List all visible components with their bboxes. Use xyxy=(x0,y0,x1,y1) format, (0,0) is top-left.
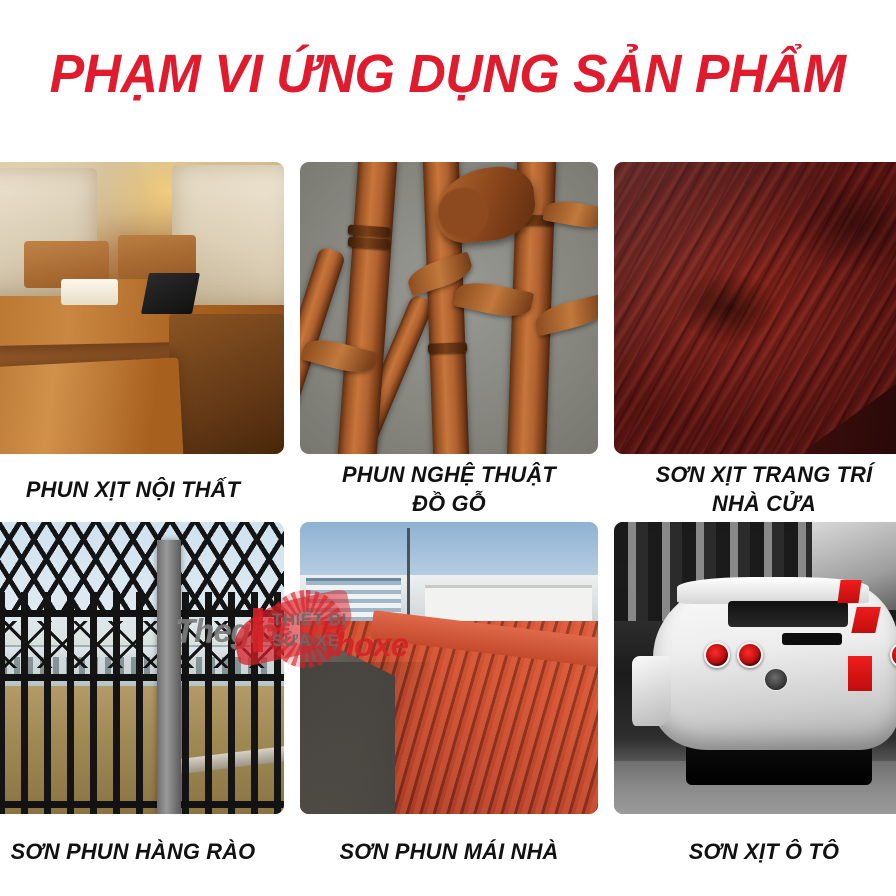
utility-pole-shape xyxy=(407,528,410,621)
gallery-caption-fence-spray: SƠN PHUN HÀNG RÀO xyxy=(0,838,279,867)
fence-rail-shape xyxy=(0,801,284,808)
laptop-shape xyxy=(141,273,200,314)
gallery-item-car-spray[interactable]: SƠN XỊT Ô TÔ xyxy=(614,522,896,882)
red-stripe-shape xyxy=(837,580,861,603)
engine-vent-shape xyxy=(782,633,842,645)
wood-cabinet-shape xyxy=(169,314,284,454)
photo-sports-car xyxy=(614,522,896,814)
gallery-item-art-wood-spray[interactable]: PHUN NGHỆ THUẬT ĐỒ GỖ xyxy=(300,162,598,522)
page-title: PHẠM VI ỨNG DỤNG SẢN PHẨM xyxy=(0,46,896,103)
red-stripe-shape xyxy=(848,656,872,691)
gallery-caption-car-spray: SƠN XỊT Ô TÔ xyxy=(619,838,896,867)
photo-iron-fence xyxy=(0,522,284,814)
roof-shadow-shape xyxy=(300,662,431,814)
poster-canvas: PHẠM VI ỨNG DỤNG SẢN PHẨM PHUN XỊT NỘI T… xyxy=(0,0,896,896)
caption-line-2: NHÀ CỬA xyxy=(619,490,896,519)
photo-metal-roof xyxy=(300,522,598,814)
rear-window-shape xyxy=(728,601,848,627)
gallery-caption-roof-spray: SƠN PHUN MÁI NHÀ xyxy=(304,838,593,867)
gallery-row-2: SƠN PHUN HÀNG RÀO SƠN PHUN MÁI NHÀ xyxy=(0,522,896,882)
gallery-item-roof-spray[interactable]: SƠN PHUN MÁI NHÀ xyxy=(300,522,598,882)
caption-line-1: SƠN XỊT Ô TÔ xyxy=(619,838,896,867)
gallery-caption-interior-spray: PHUN XỊT NỘI THẤT xyxy=(0,476,279,505)
caption-line-1: SƠN PHUN MÁI NHÀ xyxy=(304,838,593,867)
page-title-text: PHẠM VI ỨNG DỤNG SẢN PHẨM xyxy=(50,46,846,103)
gallery-item-interior-spray[interactable]: PHUN XỊT NỘI THẤT xyxy=(0,162,284,522)
gallery-row-1: PHUN XỊT NỘI THẤT xyxy=(0,162,896,522)
gallery-item-fence-spray[interactable]: SƠN PHUN HÀNG RÀO xyxy=(0,522,284,882)
fence-rail-shape xyxy=(0,674,284,681)
fence-rail-shape xyxy=(0,610,284,617)
photo-mahogany-grain xyxy=(614,162,896,454)
fence-post-shape xyxy=(157,540,181,814)
gallery-caption-home-decor-spray: SƠN XỊT TRANG TRÍ NHÀ CỬA xyxy=(619,461,896,519)
background-factory-shape xyxy=(300,575,598,622)
caption-line-1: SƠN XỊT TRANG TRÍ xyxy=(619,461,896,490)
caption-line-2: ĐỒ GỖ xyxy=(304,490,593,519)
taillight-shape xyxy=(737,642,763,668)
taillight-shape xyxy=(704,642,730,668)
panel-edge-shape xyxy=(805,369,896,454)
caption-line-1: PHUN NGHỆ THUẬT xyxy=(304,461,593,490)
fence-lattice-shape xyxy=(0,522,284,610)
photo-interior-furniture xyxy=(0,162,284,454)
caption-line-1: SƠN PHUN HÀNG RÀO xyxy=(0,838,279,867)
side-mirror-shape xyxy=(632,656,671,726)
photo-bamboo-carving xyxy=(300,162,598,454)
tissue-box-shape xyxy=(61,279,118,305)
caption-line-1: PHUN XỊT NỘI THẤT xyxy=(0,476,279,505)
gallery-caption-art-wood-spray: PHUN NGHỆ THUẬT ĐỒ GỖ xyxy=(304,461,593,519)
gallery-item-home-decor-spray[interactable]: SƠN XỊT TRANG TRÍ NHÀ CỬA xyxy=(614,162,896,522)
bamboo-node-shape xyxy=(428,342,467,353)
fence-diamond-pattern-shape xyxy=(0,621,284,668)
application-gallery: PHUN XỊT NỘI THẤT xyxy=(0,162,896,896)
